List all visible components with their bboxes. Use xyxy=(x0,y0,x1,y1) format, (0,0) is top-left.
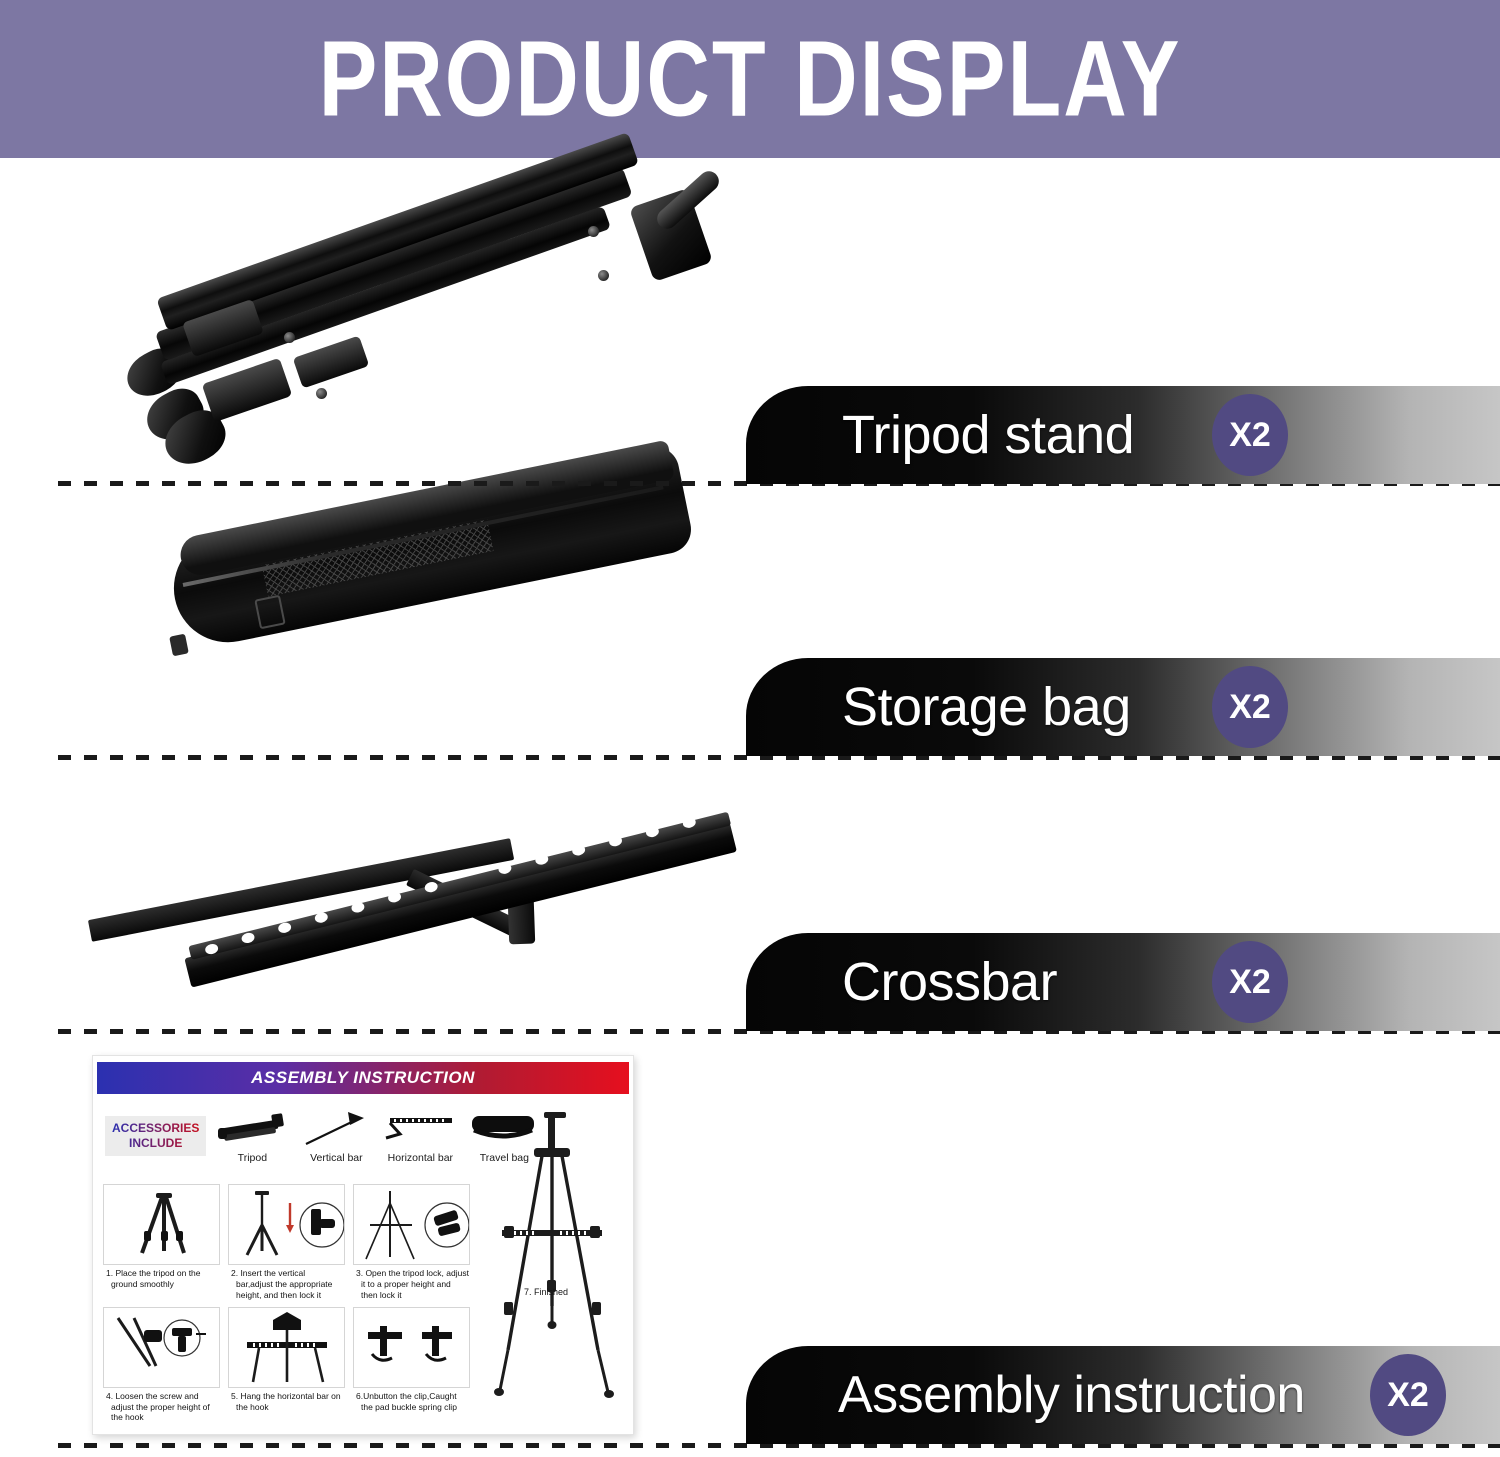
item-label-text: Storage bag xyxy=(842,676,1131,738)
quantity-badge: X2 xyxy=(1212,394,1288,476)
accessory-label: Horizontal bar xyxy=(382,1152,458,1164)
quantity-badge: X2 xyxy=(1212,941,1288,1023)
step-caption: 2. Insert the vertical bar,adjust the ap… xyxy=(229,1268,344,1301)
tripod-clamp xyxy=(293,335,370,388)
quantity-badge-text: X2 xyxy=(1229,688,1271,727)
assembly-instruction-photo: ASSEMBLY INSTRUCTION ACCESSORIES INCLUDE… xyxy=(92,1055,634,1435)
tripod-screw xyxy=(316,388,327,399)
quantity-badge-text: X2 xyxy=(1229,416,1271,455)
item-label-tripod-stand: Tripod stand X2 xyxy=(746,386,1500,484)
horizontal-bar-icon xyxy=(382,1108,458,1150)
page-header: PRODUCT DISPLAY xyxy=(0,0,1500,158)
step-caption: 5. Hang the horizontal bar on the hook xyxy=(229,1391,344,1413)
accessories-label-line1: ACCESSORIES xyxy=(112,1121,199,1136)
step-caption: 1. Place the tripod on the ground smooth… xyxy=(104,1268,219,1290)
accessory-label: Tripod xyxy=(214,1152,290,1164)
instruction-card-title: ASSEMBLY INSTRUCTION xyxy=(251,1068,475,1088)
assembly-step-3: 3. Open the tripod lock, adjust it to a … xyxy=(353,1184,470,1307)
step-image xyxy=(228,1184,345,1265)
assembly-step-6: 6.Unbutton the clip,Caught the pad buckl… xyxy=(353,1307,470,1430)
finished-tripod-illustration xyxy=(482,1106,627,1424)
step-image xyxy=(103,1307,220,1388)
step-image xyxy=(228,1307,345,1388)
assembly-step-4: 4. Loosen the screw and adjust the prope… xyxy=(103,1307,220,1430)
quantity-badge: X2 xyxy=(1212,666,1288,748)
step-caption: 6.Unbutton the clip,Caught the pad buckl… xyxy=(354,1391,469,1413)
tripod-screw xyxy=(598,270,609,281)
instruction-card-header: ASSEMBLY INSTRUCTION xyxy=(97,1062,629,1094)
quantity-badge-text: X2 xyxy=(1229,963,1271,1002)
folded-tripod-photo xyxy=(120,186,720,466)
steps-row-bottom: 4. Loosen the screw and adjust the prope… xyxy=(103,1307,471,1430)
page-title: PRODUCT DISPLAY xyxy=(319,25,1182,132)
item-label-crossbar: Crossbar X2 xyxy=(746,933,1500,1031)
tripod-icon xyxy=(214,1108,290,1150)
assembly-step-7-finished: 7. Finished xyxy=(471,1284,621,1305)
step-image xyxy=(353,1307,470,1388)
step-caption: 4. Loosen the screw and adjust the prope… xyxy=(104,1391,219,1424)
step-caption: 3. Open the tripod lock, adjust it to a … xyxy=(354,1268,469,1301)
accessory-label: Vertical bar xyxy=(298,1152,374,1164)
tripod-screw xyxy=(284,332,295,343)
quantity-badge: X2 xyxy=(1370,1354,1446,1436)
item-label-text: Tripod stand xyxy=(842,404,1134,466)
assembly-step-5: 5. Hang the horizontal bar on the hook xyxy=(228,1307,345,1430)
vertical-bar-icon xyxy=(298,1108,374,1150)
accessory-vertical-bar: Vertical bar xyxy=(298,1108,374,1164)
finished-caption: 7. Finished xyxy=(472,1287,620,1299)
accessory-horizontal-bar: Horizontal bar xyxy=(382,1108,458,1164)
crossbar-photo xyxy=(80,808,740,1024)
item-label-assembly-instruction: Assembly instruction X2 xyxy=(746,1346,1500,1444)
item-label-text: Crossbar xyxy=(842,951,1057,1013)
assembly-steps-grid: 1. Place the tripod on the ground smooth… xyxy=(103,1184,471,1429)
tripod-screw xyxy=(588,226,599,237)
storage-bag-photo xyxy=(165,505,710,740)
steps-row-top: 1. Place the tripod on the ground smooth… xyxy=(103,1184,471,1307)
item-label-storage-bag: Storage bag X2 xyxy=(746,658,1500,756)
step-image xyxy=(103,1184,220,1265)
accessories-include-chip: ACCESSORIES INCLUDE xyxy=(105,1116,206,1156)
bag-zipper-pull xyxy=(169,634,189,657)
step-image xyxy=(353,1184,470,1265)
assembly-step-1: 1. Place the tripod on the ground smooth… xyxy=(103,1184,220,1307)
item-label-text: Assembly instruction xyxy=(838,1365,1305,1425)
assembly-step-2: 2. Insert the vertical bar,adjust the ap… xyxy=(228,1184,345,1307)
bag-strap-loop xyxy=(254,595,285,630)
quantity-badge-text: X2 xyxy=(1387,1376,1429,1415)
accessories-label-line2: INCLUDE xyxy=(112,1136,199,1151)
accessory-tripod: Tripod xyxy=(214,1108,290,1164)
